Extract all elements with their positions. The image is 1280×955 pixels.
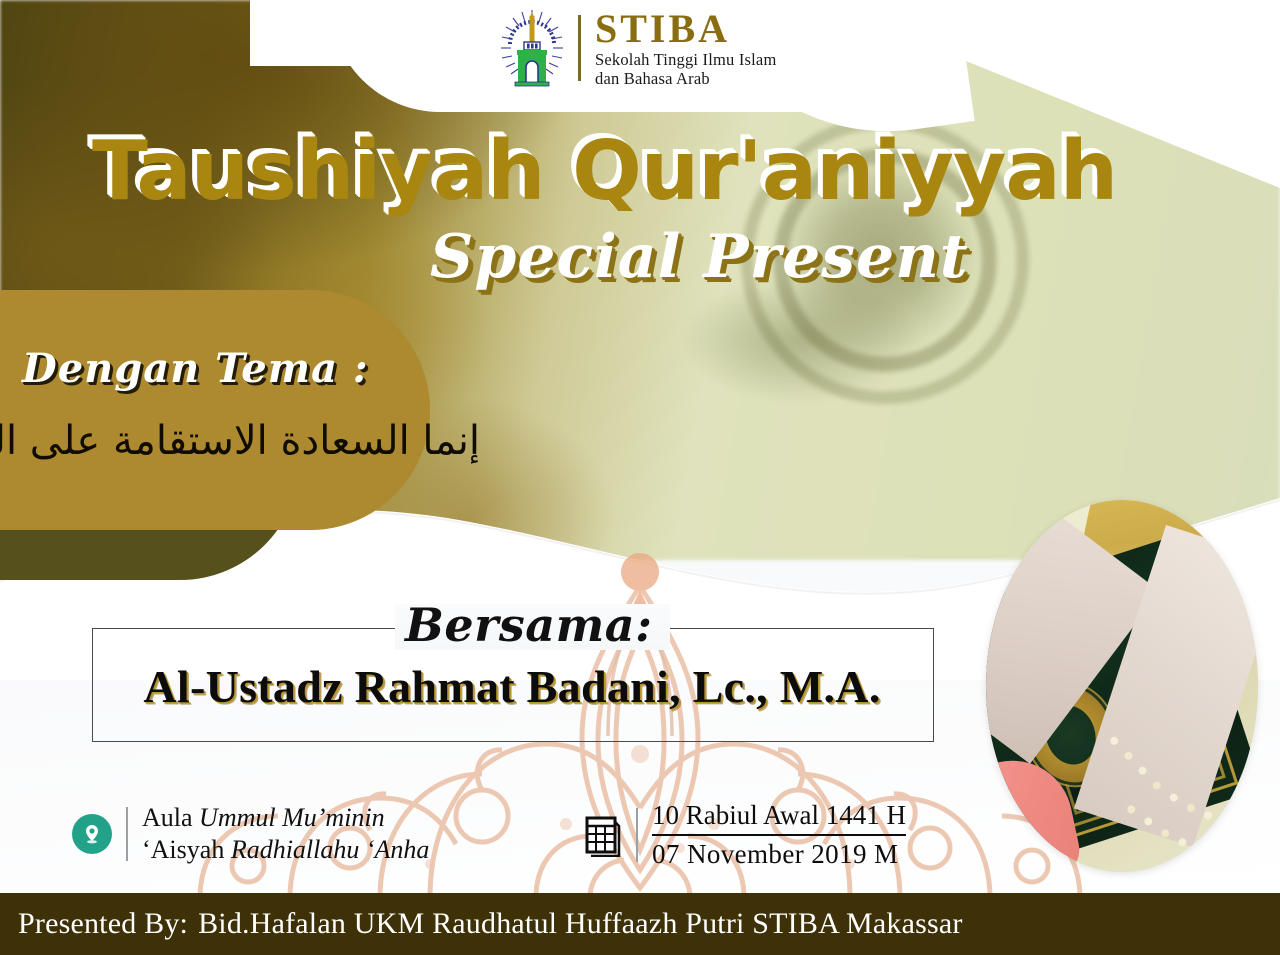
brand-tagline-line1: Sekolah Tinggi Ilmu Islam bbox=[595, 52, 776, 69]
venue-info: Aula Ummul Mu’minin ‘Aisyah Radhiallahu … bbox=[72, 802, 429, 865]
date-hijri: 10 Rabiul Awal 1441 H bbox=[652, 800, 906, 836]
footer-organizer: Bid.Hafalan UKM Raudhatul Huffaazh Putri… bbox=[198, 907, 962, 940]
venue-line2-plain: ‘Aisyah bbox=[142, 835, 231, 864]
calendar-icon bbox=[582, 813, 622, 857]
venue-line-1: Aula Ummul Mu’minin bbox=[142, 802, 429, 834]
venue-line2-italic: Radhiallahu ‘Anha bbox=[231, 835, 430, 864]
brand-name: STIBA bbox=[595, 9, 776, 49]
logo-divider bbox=[578, 15, 581, 81]
stiba-minaret-logo-icon bbox=[498, 8, 566, 88]
footer-text: Presented By:Bid.Hafalan UKM Raudhatul H… bbox=[0, 907, 963, 941]
brand-text: STIBA Sekolah Tinggi Ilmu Islam dan Baha… bbox=[595, 9, 776, 87]
venue-line1-plain: Aula bbox=[142, 803, 199, 832]
theme-label: Dengan Tema : bbox=[22, 345, 369, 392]
brand-logo: STIBA Sekolah Tinggi Ilmu Islam dan Baha… bbox=[498, 8, 776, 88]
footer-prefix: Presented By: bbox=[18, 907, 188, 940]
speaker-label: Bersama: bbox=[405, 598, 653, 652]
quran-circle-photo bbox=[986, 500, 1258, 872]
venue-divider bbox=[126, 807, 128, 861]
venue-line1-italic: Ummul Mu’minin bbox=[199, 803, 385, 832]
date-text: 10 Rabiul Awal 1441 H 07 November 2019 M bbox=[652, 800, 906, 871]
footer-bar: Presented By:Bid.Hafalan UKM Raudhatul H… bbox=[0, 893, 1280, 955]
poster-canvas: STIBA Sekolah Tinggi Ilmu Islam dan Baha… bbox=[0, 0, 1280, 955]
date-divider bbox=[636, 808, 638, 862]
photo-prayer-beads bbox=[1100, 723, 1241, 872]
location-pin-icon bbox=[72, 814, 112, 854]
speaker-name: Al-Ustadz Rahmat Badani, Lc., M.A. bbox=[92, 660, 932, 713]
venue-line-2: ‘Aisyah Radhiallahu ‘Anha bbox=[142, 834, 429, 866]
date-gregorian: 07 November 2019 M bbox=[652, 836, 906, 871]
venue-text: Aula Ummul Mu’minin ‘Aisyah Radhiallahu … bbox=[142, 802, 429, 865]
brand-tagline-line2: dan Bahasa Arab bbox=[595, 71, 776, 88]
theme-panel bbox=[0, 290, 430, 530]
event-title: Taushiyah Qur'aniyyah bbox=[92, 124, 1212, 219]
date-info: 10 Rabiul Awal 1441 H 07 November 2019 M bbox=[582, 800, 906, 871]
theme-arabic-text: إنما السعادة الاستقامة على القرآن bbox=[0, 418, 496, 464]
event-subtitle-script: Special Present bbox=[430, 222, 969, 292]
